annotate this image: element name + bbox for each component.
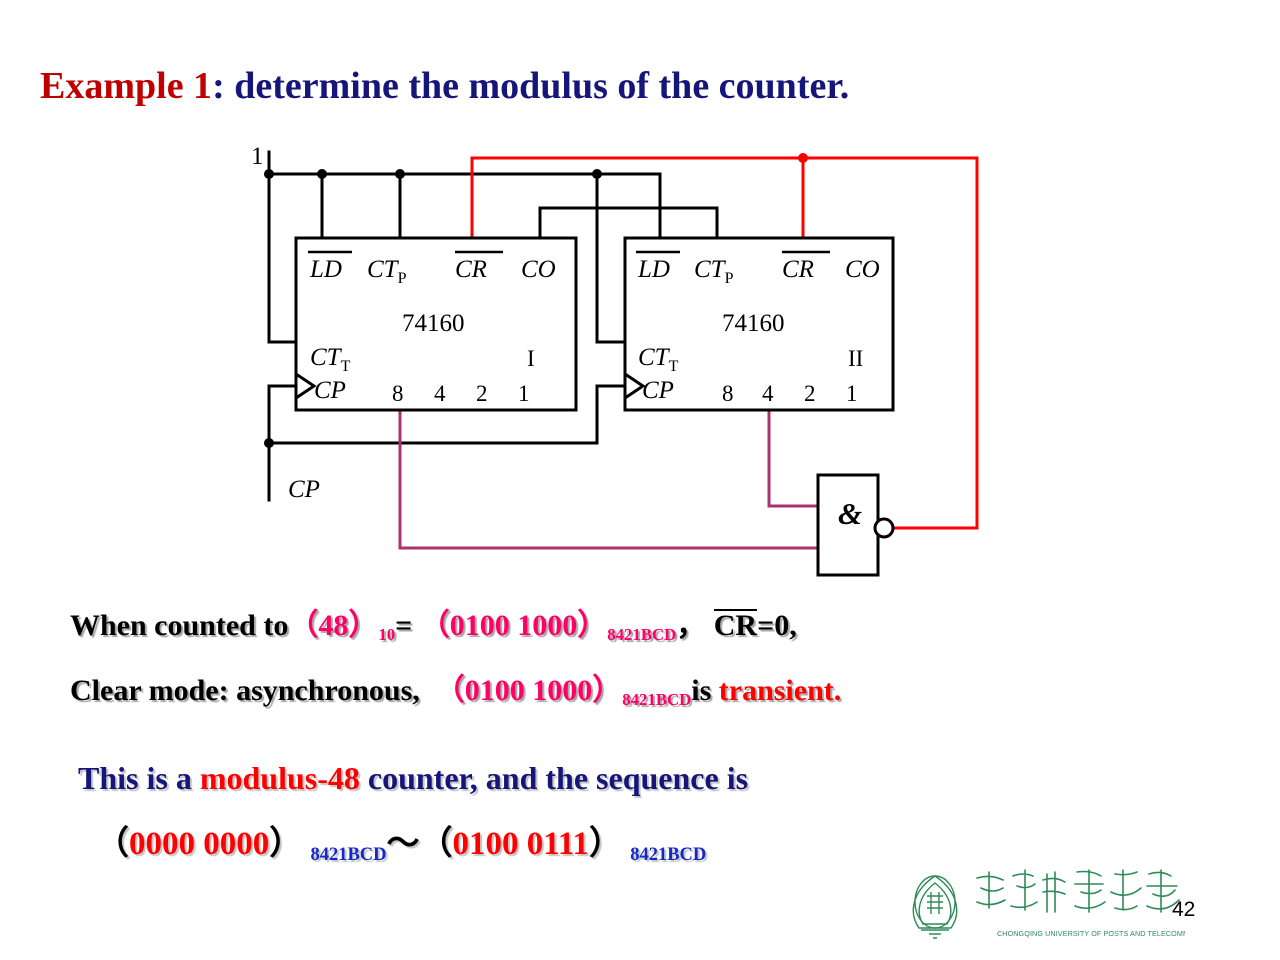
chip-1-out-8: 8 — [392, 381, 404, 406]
chip-2-roman: II — [848, 346, 863, 371]
chip-2-out-1: 1 — [846, 381, 858, 406]
line2-paren-close: ） — [592, 674, 622, 707]
chip-1-out-1: 1 — [518, 381, 530, 406]
logo-seal-inner — [919, 883, 951, 924]
wire-cp-to-chip2 — [597, 386, 632, 443]
line2-seg1: Clear mode: asynchronous, — [70, 674, 420, 707]
logo-cn-1 — [977, 872, 1005, 908]
line1-equals: = — [395, 609, 412, 642]
chip-2-out-4: 4 — [762, 381, 774, 406]
junction-dot — [264, 438, 274, 448]
wire-q4-chip2-to-nand — [769, 410, 818, 506]
chip-1-pin-ctp: CTP — [367, 256, 407, 287]
line1-value-bcd: 0100 1000 — [450, 609, 578, 642]
chip-2-pin-ld: LD — [637, 256, 670, 283]
junction-dot — [264, 169, 274, 179]
chip-2-pin-cr: CR — [782, 256, 814, 283]
university-logo: CHONGQING UNIVERSITY OF POSTS AND TELECO… — [885, 866, 1185, 952]
chip-2-pin-cp: CP — [642, 377, 674, 404]
body-line-4: （0000 0000） 8421BCD～（0100 0111） 8421BCD — [96, 816, 706, 864]
body-line-2: Clear mode: asynchronous, （0100 1000）842… — [70, 665, 841, 709]
line1-sub-bcd: 8421BCD — [607, 625, 676, 644]
wire-supply-to-ctt-1 — [269, 174, 296, 342]
logo-seal-glyph-b — [931, 892, 939, 914]
line2-paren-open: （ — [435, 674, 465, 707]
logo-cn-5 — [1111, 870, 1141, 910]
chip-1-pin-ctt: CTT — [310, 344, 351, 375]
chip-2-pin-ctt: CTT — [638, 344, 679, 375]
chip-1-pin-co: CO — [521, 256, 556, 283]
chip-2-part-number: 74160 — [722, 310, 785, 337]
wire-group-purple-outputs — [400, 410, 818, 548]
logo-english-name: CHONGQING UNIVERSITY OF POSTS AND TELECO… — [997, 929, 1185, 938]
nand-gate-body — [818, 475, 878, 575]
line4-value-end: 0100 0111 — [452, 826, 589, 862]
body-line-1: When counted to（48）10= （0100 1000）8421BC… — [70, 600, 797, 644]
logo-seal-icon — [913, 876, 956, 938]
wire-supply-to-ld-2 — [597, 174, 660, 238]
logo-cn-3 — [1043, 872, 1065, 912]
logo-chinese-name — [977, 870, 1179, 912]
line1-paren-close-b: ） — [577, 609, 607, 642]
line3-seg1: This is a — [78, 760, 192, 796]
chip-2-clock-triangle — [625, 374, 643, 398]
line2-value-bcd: 0100 1000 — [465, 674, 593, 707]
logo-cn-2 — [1011, 870, 1037, 910]
line1-comma: ， — [676, 609, 706, 642]
chip-2-out-2: 2 — [804, 381, 816, 406]
line4-paren-close-b: ） — [589, 826, 622, 862]
page-title-rest: : determine the modulus of the counter. — [212, 65, 849, 107]
line2-seg-transient: transient. — [719, 674, 842, 707]
line1-value-48: 48 — [318, 609, 348, 642]
logo-seal-base — [921, 930, 949, 938]
chip-2-outline — [625, 238, 893, 410]
page-number: 42 — [1172, 898, 1195, 922]
wire-co1-to-ctp2 — [540, 208, 717, 238]
line4-paren-open-b: （ — [419, 826, 452, 862]
chip-74160-I: LD CTP CR CO 74160 CTT CP I 8 4 2 1 — [296, 238, 576, 410]
nand-gate-symbol: & — [838, 496, 862, 531]
line3-seg2: counter, and the sequence is — [368, 760, 748, 796]
nand-gate-bubble — [875, 519, 893, 537]
clock-label-cp: CP — [288, 476, 320, 503]
chip-1-pin-cr: CR — [455, 256, 487, 283]
line1-paren-open-b: （ — [420, 609, 450, 642]
chip-1-clock-triangle — [296, 374, 314, 398]
line1-cr-label: CR — [714, 609, 757, 641]
line2-seg-is: is — [691, 674, 711, 707]
wire-supply-to-ctt-2 — [597, 174, 632, 342]
chip-74160-II: LD CTP CR CO 74160 CTT CP II 8 4 2 1 — [625, 238, 893, 410]
line4-sub-b: 8421BCD — [630, 844, 706, 864]
chip-2-pin-co: CO — [845, 256, 880, 283]
logo-cn-4 — [1075, 870, 1105, 912]
chip-1-pin-cp: CP — [314, 377, 346, 404]
line4-paren-open-a: （ — [96, 826, 129, 862]
chip-1-roman: I — [527, 346, 535, 371]
line3-seg-modulus: modulus-48 — [200, 760, 360, 796]
line1-paren-close-a: ） — [348, 609, 378, 642]
wire-q8-chip1-to-nand — [400, 410, 818, 548]
junction-dots — [264, 169, 602, 448]
chip-2-pin-ctp: CTP — [694, 256, 734, 287]
junction-dot-red — [798, 153, 808, 163]
wire-nand-out-to-cr — [472, 158, 977, 528]
line4-value-start: 0000 0000 — [129, 826, 269, 862]
line1-cr-value: =0, — [757, 609, 797, 642]
line4-paren-close-a: ） — [269, 826, 302, 862]
chip-1-pin-ld: LD — [309, 256, 342, 283]
line1-paren-open-a: （ — [288, 609, 318, 642]
junction-dot — [317, 169, 327, 179]
wire-group-red-clear — [472, 158, 977, 528]
chip-1-out-4: 4 — [434, 381, 446, 406]
line4-tilde: ～ — [386, 826, 419, 862]
line1-seg1: When counted to — [70, 609, 288, 642]
page-title-example-label: Example 1 — [40, 65, 212, 107]
page-title: Example 1: determine the modulus of the … — [40, 64, 849, 108]
line4-sub-a: 8421BCD — [311, 844, 387, 864]
chip-2-out-8: 8 — [722, 381, 734, 406]
line2-sub-bcd: 8421BCD — [622, 690, 691, 709]
wire-group-black — [269, 152, 717, 500]
chip-1-out-2: 2 — [476, 381, 488, 406]
body-line-3: This is a modulus-48 counter, and the se… — [78, 760, 748, 797]
junction-dot — [395, 169, 405, 179]
supply-label-1: 1 — [251, 143, 264, 170]
junction-dot — [592, 169, 602, 179]
nand-gate: & — [818, 475, 893, 575]
chip-1-part-number: 74160 — [402, 310, 465, 337]
logo-seal-glyph-a — [927, 896, 943, 908]
chip-1-outline — [296, 238, 576, 410]
line1-sub-10: 10 — [378, 625, 395, 644]
